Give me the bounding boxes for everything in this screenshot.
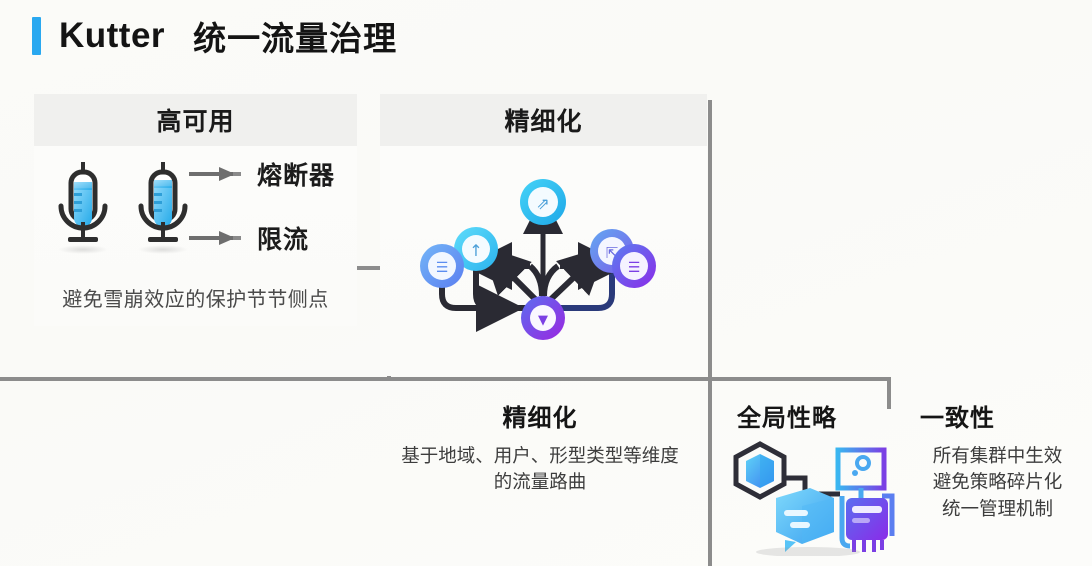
title-accent-bar	[32, 17, 41, 55]
node-left: ☰	[420, 244, 464, 288]
traffic-routing-diagram: ⇗ ↑ ⇱ ☰	[380, 146, 707, 376]
section-line: 基于地域、用户、形型类型等维度	[390, 443, 690, 469]
section-line: 统一管理机制	[910, 496, 1085, 522]
high-availability-icon-group	[52, 160, 194, 250]
router-node: ▼	[521, 296, 565, 340]
svg-text:☰: ☰	[628, 260, 641, 276]
list-item: 限流	[189, 220, 335, 256]
section-line: 的流量路曲	[390, 469, 690, 495]
feature-label: 限流	[257, 220, 309, 256]
arrow-right-icon	[189, 230, 241, 246]
arrow-right-icon	[189, 166, 241, 182]
svg-text:⇗: ⇗	[536, 194, 549, 213]
gauge-mic-icon	[132, 160, 194, 250]
node-top: ⇗	[520, 179, 566, 225]
card-body-high-availability: 熔断器 限流 避免雪崩效应的保护节节侧点	[34, 146, 357, 326]
card-header-fine-grained: 精细化	[380, 94, 707, 146]
card-title: 高可用	[156, 102, 234, 138]
brand-name: Kutter	[59, 16, 165, 56]
section-body-consistency: 所有集群中生效 避免策略碎片化 统一管理机制	[910, 443, 1085, 522]
page-title: Kutter 统一流量治理	[32, 12, 397, 60]
icon-shadow	[138, 245, 188, 254]
svg-text:▼: ▼	[538, 313, 548, 328]
card-caption: 避免雪崩效应的保护节节侧点	[34, 283, 357, 312]
feature-label: 熔断器	[257, 156, 335, 192]
section-line: 避免策略碎片化	[910, 469, 1085, 495]
section-line: 所有集群中生效	[910, 443, 1085, 469]
icon-shadow	[58, 245, 108, 254]
node-right: ☰	[612, 244, 656, 288]
section-body-fine-grained: 基于地域、用户、形型类型等维度 的流量路曲	[390, 443, 690, 496]
card-body-fine-grained: ⇗ ↑ ⇱ ☰	[380, 146, 707, 376]
card-high-availability: 高可用	[34, 94, 357, 326]
svg-text:↑: ↑	[469, 241, 482, 260]
gauge-mic-icon	[52, 160, 114, 250]
section-title-consistency: 一致性	[920, 398, 995, 433]
high-availability-feature-list: 熔断器 限流	[189, 156, 335, 256]
section-title-global-policy: 全局性略	[737, 398, 837, 433]
page-subtitle: 统一流量治理	[193, 12, 397, 60]
frame-line-vertical-right	[708, 100, 712, 566]
list-item: 熔断器	[189, 156, 335, 192]
section-title-fine-grained: 精细化	[395, 398, 685, 433]
cluster-chip-icon	[730, 436, 900, 556]
slide-canvas: Kutter 统一流量治理 高可用	[0, 0, 1092, 566]
card-title: 精细化	[504, 102, 582, 138]
svg-text:☰: ☰	[436, 260, 449, 276]
card-fine-grained: 精细化	[380, 94, 707, 376]
card-header-high-availability: 高可用	[34, 94, 357, 146]
frame-line-right-tick	[887, 377, 891, 409]
frame-line-horizontal-main	[0, 377, 891, 381]
